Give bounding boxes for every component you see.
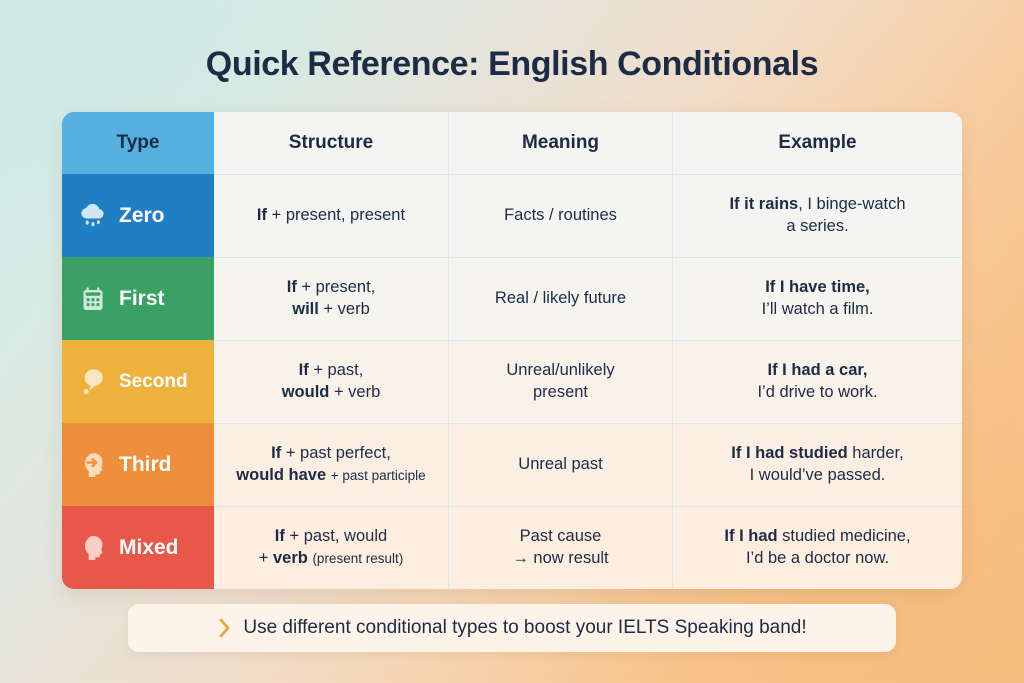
rain-cloud-icon [76, 199, 110, 233]
footer-tip-text: Use different conditional types to boost… [243, 617, 806, 639]
meaning-cell: Unreal past [448, 423, 672, 506]
table-row: Zero If + present, present Facts / routi… [62, 174, 962, 257]
meaning-cell: Facts / routines [448, 174, 672, 257]
calendar-icon [76, 282, 110, 316]
type-cell-zero: Zero [62, 174, 214, 257]
example-cell: If I had studied medicine,I’d be a docto… [672, 506, 962, 589]
column-header-type: Type [62, 112, 214, 174]
example-cell: If I have time,I’ll watch a film. [672, 257, 962, 340]
type-cell-first: First [62, 257, 214, 340]
head-icon [76, 531, 110, 565]
table-row: Mixed If + past, would+ verb (present re… [62, 506, 962, 589]
structure-cell: If + past, would+ verb (present result) [214, 506, 448, 589]
structure-cell: If + past perfect,would have + past part… [214, 423, 448, 506]
structure-cell: If + present,will + verb [214, 257, 448, 340]
table-row: Third If + past perfect,would have + pas… [62, 423, 962, 506]
type-cell-third: Third [62, 423, 214, 506]
structure-cell: If + past,would + verb [214, 340, 448, 423]
table-header-row: Type Structure Meaning Example [62, 112, 962, 174]
footer-tip-banner: Use different conditional types to boost… [128, 604, 896, 652]
chevron-right-icon [217, 617, 232, 639]
column-header-meaning: Meaning [448, 112, 672, 174]
head-arrow-icon [76, 448, 110, 482]
meaning-cell: Real / likely future [448, 257, 672, 340]
table-row: First If + present,will + verb Real / li… [62, 257, 962, 340]
type-cell-second: Second [62, 340, 214, 423]
conditionals-table: Type Structure Meaning Example Zero If +… [62, 112, 962, 589]
thought-bubble-icon [76, 365, 110, 399]
column-header-structure: Structure [214, 112, 448, 174]
example-cell: If I had studied harder,I would’ve passe… [672, 423, 962, 506]
type-label: Third [119, 451, 172, 479]
type-label: Mixed [119, 534, 179, 562]
structure-cell: If + present, present [214, 174, 448, 257]
column-header-example: Example [672, 112, 962, 174]
table-row: Second If + past,would + verb Unreal/unl… [62, 340, 962, 423]
example-cell: If it rains, I binge-watcha series. [672, 174, 962, 257]
type-label: Zero [119, 202, 165, 230]
page-title: Quick Reference: English Conditionals [0, 45, 1024, 84]
example-cell: If I had a car,I’d drive to work. [672, 340, 962, 423]
type-label: Second [119, 369, 188, 394]
type-label: First [119, 285, 165, 313]
type-cell-mixed: Mixed [62, 506, 214, 589]
meaning-cell: Unreal/unlikelypresent [448, 340, 672, 423]
meaning-cell: Past cause→ now result [448, 506, 672, 589]
